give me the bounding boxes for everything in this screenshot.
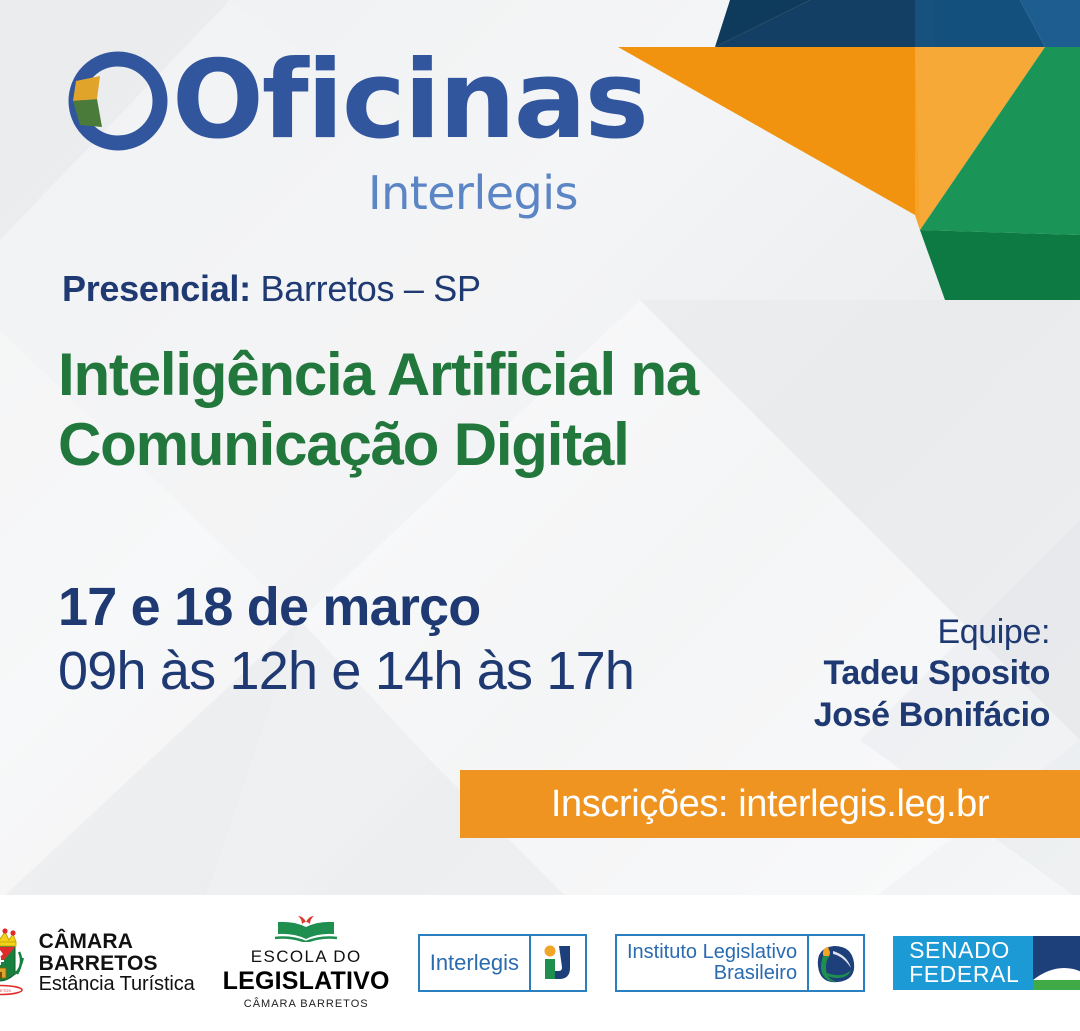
logo-senado-federal: SENADO FEDERAL — [893, 936, 1080, 990]
event-title-line-1: Inteligência Artificial na — [58, 340, 798, 410]
logo-interlegis: Interlegis — [418, 934, 587, 992]
interlegis-mark — [531, 936, 585, 990]
event-title-line-2: Comunicação Digital — [58, 410, 798, 480]
ilb-line-2: Brasileiro — [627, 963, 797, 984]
senado-dome-icon — [1033, 936, 1080, 990]
registration-text: Inscrições: interlegis.leg.br — [551, 783, 989, 826]
event-title: Inteligência Artificial na Comunicação D… — [58, 340, 798, 480]
ilb-emblem-icon — [814, 942, 858, 984]
ilb-mark — [809, 936, 863, 990]
team-member-2: José Bonifácio — [814, 695, 1050, 736]
interlegis-i-icon — [538, 942, 578, 984]
event-times: 09h às 12h e 14h às 17h — [58, 641, 634, 701]
ilb-box: Instituto Legislativo Brasileiro — [615, 934, 865, 992]
event-team: Equipe: Tadeu Sposito José Bonifácio — [814, 612, 1050, 736]
escola-legislativo-line-3: CÂMARA BARRETOS — [223, 998, 390, 1010]
poster-canvas: Oficinas Interlegis Presencial: Barretos… — [0, 0, 1080, 1031]
event-city: Barretos – SP — [251, 268, 481, 309]
team-member-1: Tadeu Sposito — [814, 653, 1050, 694]
ilb-label: Instituto Legislativo Brasileiro — [617, 936, 807, 990]
ilb-line-1: Instituto Legislativo — [627, 942, 797, 963]
logo-wordmark: Oficinas — [62, 42, 582, 160]
interlegis-box: Interlegis — [418, 934, 587, 992]
svg-text:BARRETOS: BARRETOS — [0, 988, 11, 993]
open-book-icon — [263, 916, 349, 942]
logo-subtitle: Interlegis — [62, 170, 582, 216]
event-dates: 17 e 18 de março — [58, 578, 634, 637]
senado-federal-line-2: FEDERAL — [909, 963, 1019, 987]
camara-barretos-text: CÂMARA BARRETOS Estância Turística — [39, 931, 195, 994]
camara-barretos-line-2: BARRETOS — [39, 953, 195, 974]
escola-legislativo-inner: ESCOLA DO LEGISLATIVO CÂMARA BARRETOS — [223, 916, 390, 1010]
logo-camara-barretos: BARRETOS CÂMARA BARRETOS Estância Turíst… — [0, 928, 195, 998]
senado-federal-line-1: SENADO — [909, 939, 1019, 963]
interlegis-label: Interlegis — [420, 936, 529, 990]
footer-logo-bar: BARRETOS CÂMARA BARRETOS Estância Turíst… — [0, 895, 1080, 1031]
logo-instituto-legislativo-brasileiro: Instituto Legislativo Brasileiro — [615, 934, 865, 992]
camara-barretos-crest-icon: BARRETOS — [0, 928, 29, 998]
registration-banner[interactable]: Inscrições: interlegis.leg.br — [460, 770, 1080, 838]
camara-barretos-line-1: CÂMARA — [39, 931, 195, 952]
event-mode-line: Presencial: Barretos – SP — [62, 268, 481, 310]
logo-escola-do-legislativo: ESCOLA DO LEGISLATIVO CÂMARA BARRETOS — [223, 916, 390, 1010]
event-mode-label: Presencial: — [62, 268, 251, 309]
escola-legislativo-line-1: ESCOLA DO — [223, 947, 390, 967]
escola-legislativo-line-2: LEGISLATIVO — [223, 967, 390, 996]
team-label: Equipe: — [814, 612, 1050, 653]
senado-federal-text: SENADO FEDERAL — [893, 936, 1033, 990]
senado-federal-mark — [1033, 936, 1080, 990]
logo-main-text: Oficinas — [172, 47, 647, 155]
oficinas-logo: Oficinas Interlegis — [62, 42, 582, 216]
corner-geometric-art — [600, 0, 1080, 300]
oficinas-o-icon — [62, 49, 170, 153]
camara-barretos-line-3: Estância Turística — [39, 974, 195, 994]
event-schedule: 17 e 18 de março 09h às 12h e 14h às 17h — [58, 578, 634, 702]
